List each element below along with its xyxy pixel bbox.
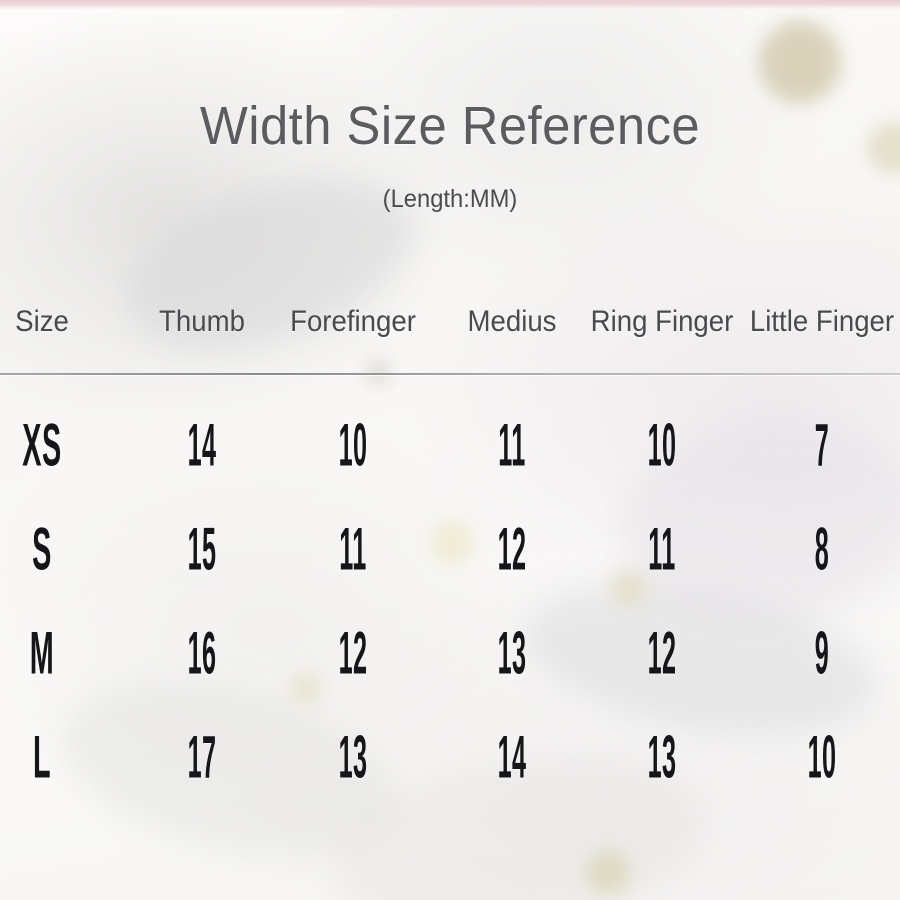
row-size-label: L — [33, 723, 51, 792]
cell-little_finger: 10 — [808, 723, 837, 792]
column-header-ring-finger: Ring Finger — [591, 305, 734, 339]
cell-ring_finger: 10 — [648, 411, 677, 480]
header-divider — [0, 373, 900, 375]
cell-medius: 12 — [498, 515, 527, 584]
row-size-label: XS — [22, 411, 61, 480]
size-chart-image: Width Size Reference (Length:MM) SizeThu… — [0, 0, 900, 900]
column-header-size: Size — [15, 305, 69, 339]
row-size-label: M — [30, 619, 54, 688]
cell-thumb: 16 — [188, 619, 217, 688]
cell-thumb: 17 — [188, 723, 217, 792]
table-header-row: SizeThumbForefingerMediusRing FingerLitt… — [0, 305, 900, 361]
cell-little_finger: 7 — [815, 411, 829, 480]
cell-forefinger: 10 — [339, 411, 368, 480]
cell-forefinger: 11 — [339, 515, 366, 584]
cell-medius: 11 — [498, 411, 525, 480]
cell-thumb: 15 — [188, 515, 217, 584]
column-header-forefinger: Forefinger — [290, 305, 416, 339]
page-title: Width Size Reference — [27, 95, 873, 157]
cell-ring_finger: 11 — [648, 515, 675, 584]
row-size-label: S — [32, 515, 52, 584]
column-header-medius: Medius — [468, 305, 557, 339]
column-header-little-finger: Little Finger — [750, 305, 894, 339]
cell-forefinger: 13 — [339, 723, 368, 792]
chart-content: Width Size Reference (Length:MM) SizeThu… — [0, 0, 900, 900]
cell-little_finger: 9 — [815, 619, 829, 688]
cell-little_finger: 8 — [815, 515, 829, 584]
cell-medius: 13 — [498, 619, 527, 688]
cell-medius: 14 — [498, 723, 527, 792]
cell-ring_finger: 12 — [648, 619, 677, 688]
cell-thumb: 14 — [188, 411, 217, 480]
cell-ring_finger: 13 — [648, 723, 677, 792]
cell-forefinger: 12 — [339, 619, 368, 688]
page-subtitle: (Length:MM) — [23, 185, 878, 214]
column-header-thumb: Thumb — [159, 305, 245, 339]
